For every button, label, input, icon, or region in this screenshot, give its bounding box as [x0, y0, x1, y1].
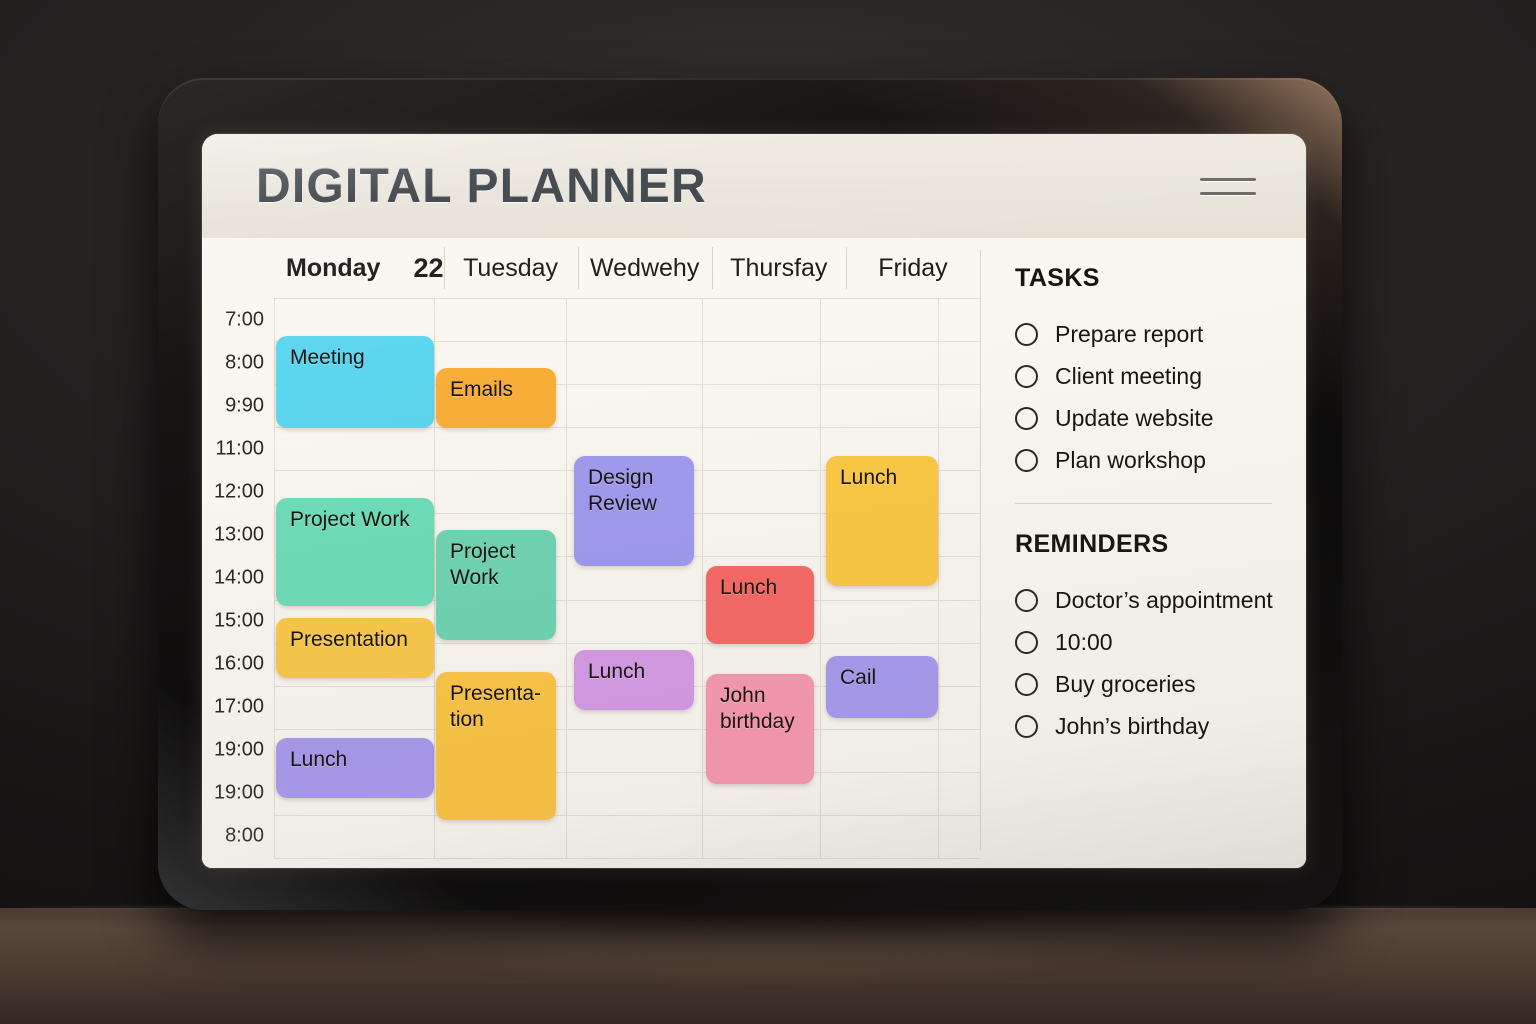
event-title: Presenta-	[450, 681, 543, 707]
reminder-item-label: John’s birthday	[1055, 713, 1209, 740]
time-axis: 7:008:009:9011:0012:0013:0014:0015:0016:…	[202, 298, 274, 858]
time-label: 11:00	[215, 437, 264, 460]
calendar-event[interactable]: Meeting	[276, 336, 434, 428]
time-label: 15:00	[214, 610, 264, 633]
grid-vline-left	[274, 298, 275, 858]
event-title: tion	[450, 707, 543, 733]
calendar-event[interactable]: Presenta-tion	[436, 672, 556, 820]
scene-background: DIGITAL PLANNER Monday22TuesdayWedwehyTh…	[0, 0, 1536, 1024]
event-title: Design Review	[588, 465, 681, 517]
day-number: 22	[413, 253, 443, 284]
day-header-1[interactable]: Tuesday	[444, 238, 578, 298]
time-label: 16:00	[214, 653, 264, 676]
event-title: Lunch	[588, 659, 681, 685]
event-title: John birthday	[720, 683, 801, 735]
day-header-4[interactable]: Friday	[846, 238, 980, 298]
reminder-item[interactable]: Doctor’s appointment	[1015, 579, 1306, 621]
event-title: Project Work	[290, 507, 421, 533]
time-label: 19:00	[214, 739, 264, 762]
time-label: 14:00	[214, 567, 264, 590]
reminder-item-label: Buy groceries	[1055, 671, 1196, 698]
app-content: Monday22TuesdayWedwehyThursfayFriday 7:0…	[202, 238, 1306, 868]
time-label: 17:00	[214, 696, 264, 719]
time-label: 12:00	[214, 480, 264, 503]
event-title: Cail	[840, 665, 925, 691]
calendar-event[interactable]: John birthday	[706, 674, 814, 784]
checkbox-circle-icon[interactable]	[1015, 365, 1038, 388]
event-title: Lunch	[290, 747, 421, 773]
checkbox-circle-icon[interactable]	[1015, 673, 1038, 696]
day-name: Monday	[286, 254, 380, 283]
time-label: 8:00	[225, 351, 264, 374]
tablet-device: DIGITAL PLANNER Monday22TuesdayWedwehyTh…	[158, 78, 1342, 910]
reminders-list: Doctor’s appointment10:00Buy groceriesJo…	[1015, 579, 1306, 747]
event-title: Lunch	[840, 465, 925, 491]
task-item[interactable]: Client meeting	[1015, 355, 1306, 397]
calendar-event[interactable]: Project Work	[436, 530, 556, 640]
grid-vline-4	[938, 298, 939, 858]
reminder-item[interactable]: 10:00	[1015, 621, 1306, 663]
calendar-panel: Monday22TuesdayWedwehyThursfayFriday 7:0…	[202, 238, 980, 868]
task-item[interactable]: Plan workshop	[1015, 439, 1306, 481]
calendar-event[interactable]: Lunch	[574, 650, 694, 710]
hamburger-menu-icon[interactable]	[1200, 169, 1256, 203]
menu-line	[1200, 178, 1256, 181]
time-label: 7:00	[225, 308, 264, 331]
task-item-label: Prepare report	[1055, 321, 1203, 348]
calendar-event[interactable]: Lunch	[826, 456, 938, 586]
checkbox-circle-icon[interactable]	[1015, 589, 1038, 612]
time-label: 19:00	[214, 782, 264, 805]
event-title: Project Work	[450, 539, 543, 591]
event-title: Meeting	[290, 345, 421, 371]
sidebar-separator	[1015, 503, 1272, 504]
app-header: DIGITAL PLANNER	[202, 134, 1306, 238]
grid-vline-3	[820, 298, 821, 858]
time-column-spacer	[202, 238, 274, 298]
calendar-event[interactable]: Emails	[436, 368, 556, 428]
checkbox-circle-icon[interactable]	[1015, 631, 1038, 654]
task-item-label: Update website	[1055, 405, 1214, 432]
checkbox-circle-icon[interactable]	[1015, 715, 1038, 738]
calendar-event[interactable]: Presentation	[276, 618, 434, 678]
time-label: 9:90	[225, 394, 264, 417]
checkbox-circle-icon[interactable]	[1015, 449, 1038, 472]
task-item[interactable]: Update website	[1015, 397, 1306, 439]
tasks-section-title: TASKS	[1015, 264, 1306, 293]
grid-hline	[274, 729, 980, 730]
time-label: 8:00	[225, 825, 264, 848]
page-title: DIGITAL PLANNER	[256, 159, 707, 214]
day-name: Tuesday	[463, 254, 558, 283]
reminder-item[interactable]: John’s birthday	[1015, 705, 1306, 747]
event-title: Emails	[450, 377, 543, 403]
calendar-event[interactable]: Cail	[826, 656, 938, 718]
event-title: Lunch	[720, 575, 801, 601]
checkbox-circle-icon[interactable]	[1015, 323, 1038, 346]
task-item-label: Plan workshop	[1055, 447, 1206, 474]
calendar-event[interactable]: Lunch	[276, 738, 434, 798]
day-header-3[interactable]: Thursfay	[712, 238, 846, 298]
day-header-0[interactable]: Monday22	[274, 238, 444, 298]
reminder-item[interactable]: Buy groceries	[1015, 663, 1306, 705]
menu-line	[1200, 192, 1256, 195]
calendar-day-header-row: Monday22TuesdayWedwehyThursfayFriday	[202, 238, 980, 298]
time-label: 13:00	[214, 523, 264, 546]
grid-vline-1	[566, 298, 567, 858]
tablet-screen: DIGITAL PLANNER Monday22TuesdayWedwehyTh…	[202, 134, 1306, 868]
calendar-event[interactable]: Project Work	[276, 498, 434, 606]
calendar-grid-wrapper: 7:008:009:9011:0012:0013:0014:0015:0016:…	[202, 298, 980, 858]
event-title: Presentation	[290, 627, 421, 653]
grid-vline-2	[702, 298, 703, 858]
grid-hline	[274, 858, 980, 859]
sidebar-panel: TASKS Prepare reportClient meetingUpdate…	[981, 238, 1306, 868]
day-name: Friday	[878, 254, 947, 283]
task-item-label: Client meeting	[1055, 363, 1202, 390]
reminders-section-title: REMINDERS	[1015, 530, 1306, 559]
calendar-event[interactable]: Lunch	[706, 566, 814, 644]
reminder-item-label: 10:00	[1055, 629, 1113, 656]
reminder-item-label: Doctor’s appointment	[1055, 587, 1273, 614]
calendar-grid: MeetingProject WorkPresentationLunchEmai…	[274, 298, 980, 858]
calendar-event[interactable]: Design Review	[574, 456, 694, 566]
tasks-list: Prepare reportClient meetingUpdate websi…	[1015, 313, 1306, 481]
grid-hline	[274, 815, 980, 816]
day-header-2[interactable]: Wedwehy	[578, 238, 712, 298]
day-name: Wedwehy	[590, 254, 699, 283]
grid-hline	[274, 298, 980, 299]
day-name: Thursfay	[730, 254, 827, 283]
task-item[interactable]: Prepare report	[1015, 313, 1306, 355]
checkbox-circle-icon[interactable]	[1015, 407, 1038, 430]
grid-vline-0	[434, 298, 435, 858]
